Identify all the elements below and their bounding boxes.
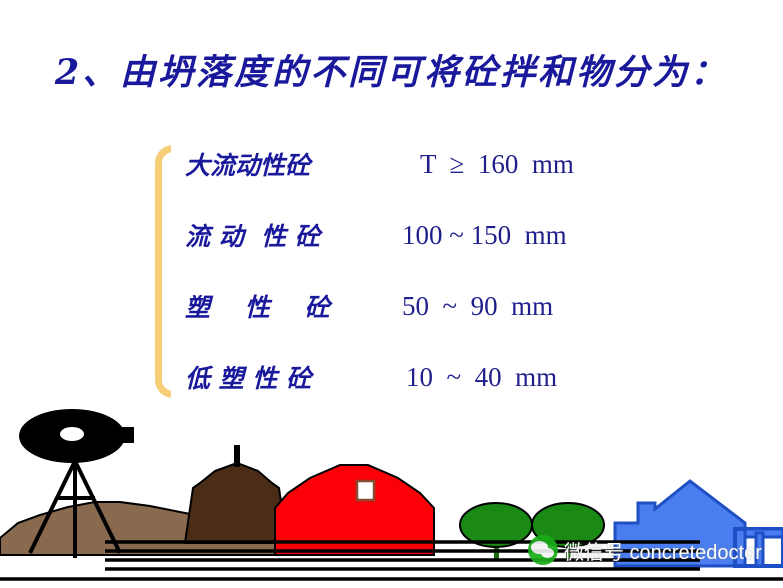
list-item-label: 流 动 性 砼 bbox=[185, 217, 390, 253]
left-brace-decoration bbox=[155, 145, 177, 398]
list-item-value: T ≥ 160 mm bbox=[390, 149, 625, 180]
slide-canvas: 2、由坍落度的不同可将砼拌和物分为： 大流动性砼 T ≥ 160 mm 流 动 … bbox=[0, 0, 783, 588]
list-item-label: 塑 性 砼 bbox=[185, 288, 390, 324]
list-item: 流 动 性 砼 100 ~ 150 mm bbox=[185, 214, 625, 256]
list-item: 低 塑 性 砼 10 ~ 40 mm bbox=[185, 356, 625, 398]
list-item-label: 低 塑 性 砼 bbox=[185, 359, 390, 395]
list-item-value: 10 ~ 40 mm bbox=[390, 362, 625, 393]
list-item-value: 50 ~ 90 mm bbox=[390, 291, 625, 322]
list-item-label: 大流动性砼 bbox=[185, 146, 390, 182]
windmill-wheel-icon bbox=[19, 409, 134, 463]
list-item-value: 100 ~ 150 mm bbox=[390, 220, 625, 251]
list-item: 大流动性砼 T ≥ 160 mm bbox=[185, 143, 625, 185]
page-title: 2、由坍落度的不同可将砼拌和物分为： bbox=[0, 44, 783, 95]
silo-building-shape bbox=[185, 445, 287, 543]
list-item: 塑 性 砼 50 ~ 90 mm bbox=[185, 285, 625, 327]
blue-house-shape bbox=[615, 481, 783, 566]
farm-illustration bbox=[0, 403, 783, 588]
classification-list: 大流动性砼 T ≥ 160 mm 流 动 性 砼 100 ~ 150 mm 塑 … bbox=[155, 143, 625, 401]
